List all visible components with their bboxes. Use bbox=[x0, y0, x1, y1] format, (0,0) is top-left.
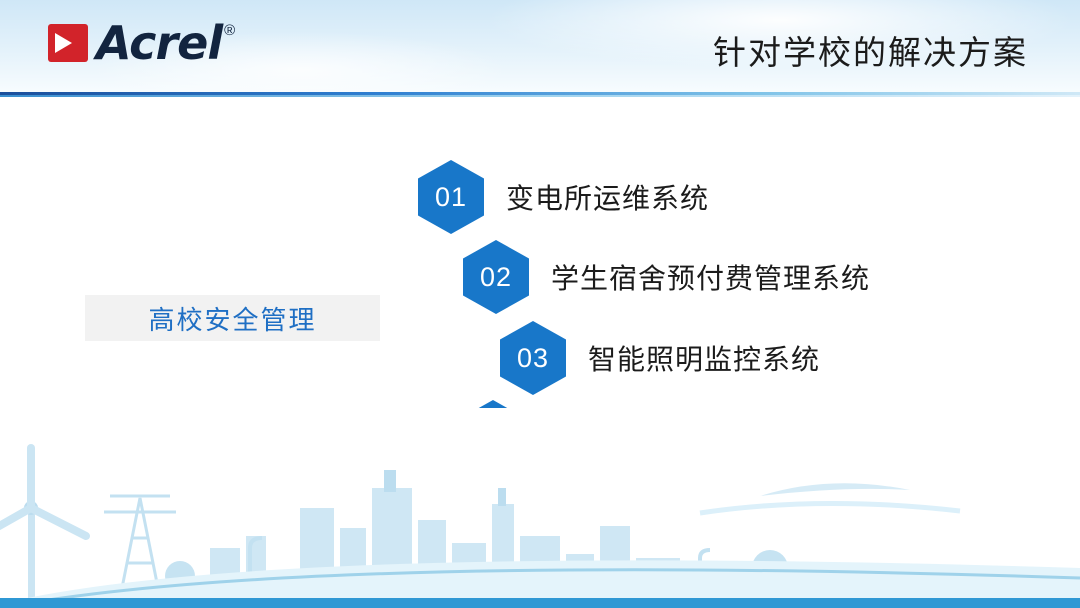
slide: Acrel ® 针对学校的解决方案 高校安全管理 01 变电所运维系统 02 学… bbox=[0, 0, 1080, 608]
bottom-accent-bar bbox=[0, 598, 1080, 608]
item-label: 变电所运维系统 bbox=[506, 177, 709, 217]
item-number: 03 bbox=[517, 343, 549, 374]
hexagon-badge-03: 03 bbox=[500, 321, 566, 395]
category-label-box: 高校安全管理 bbox=[85, 295, 380, 341]
registered-trademark-icon: ® bbox=[224, 22, 235, 39]
cityscape-illustration bbox=[0, 408, 1080, 608]
acrel-logo: Acrel ® bbox=[48, 20, 235, 66]
page-title: 针对学校的解决方案 bbox=[713, 26, 1028, 74]
hexagon-badge-01: 01 bbox=[418, 160, 484, 234]
item-label: 学生宿舍预付费管理系统 bbox=[551, 257, 870, 297]
bottom-decoration bbox=[0, 408, 1080, 608]
category-label-text: 高校安全管理 bbox=[148, 300, 316, 337]
acrel-logo-mark-icon bbox=[48, 24, 90, 64]
list-item[interactable]: 01 变电所运维系统 bbox=[418, 160, 709, 234]
item-number: 02 bbox=[480, 262, 512, 293]
acrel-logo-text: Acrel bbox=[96, 20, 222, 66]
hexagon-badge-02: 02 bbox=[463, 240, 529, 314]
list-item[interactable]: 02 学生宿舍预付费管理系统 bbox=[463, 240, 870, 314]
item-label: 智能照明监控系统 bbox=[588, 338, 820, 378]
list-item[interactable]: 03 智能照明监控系统 bbox=[500, 321, 820, 395]
item-number: 01 bbox=[435, 182, 467, 213]
header-divider-line-secondary bbox=[0, 95, 1080, 97]
